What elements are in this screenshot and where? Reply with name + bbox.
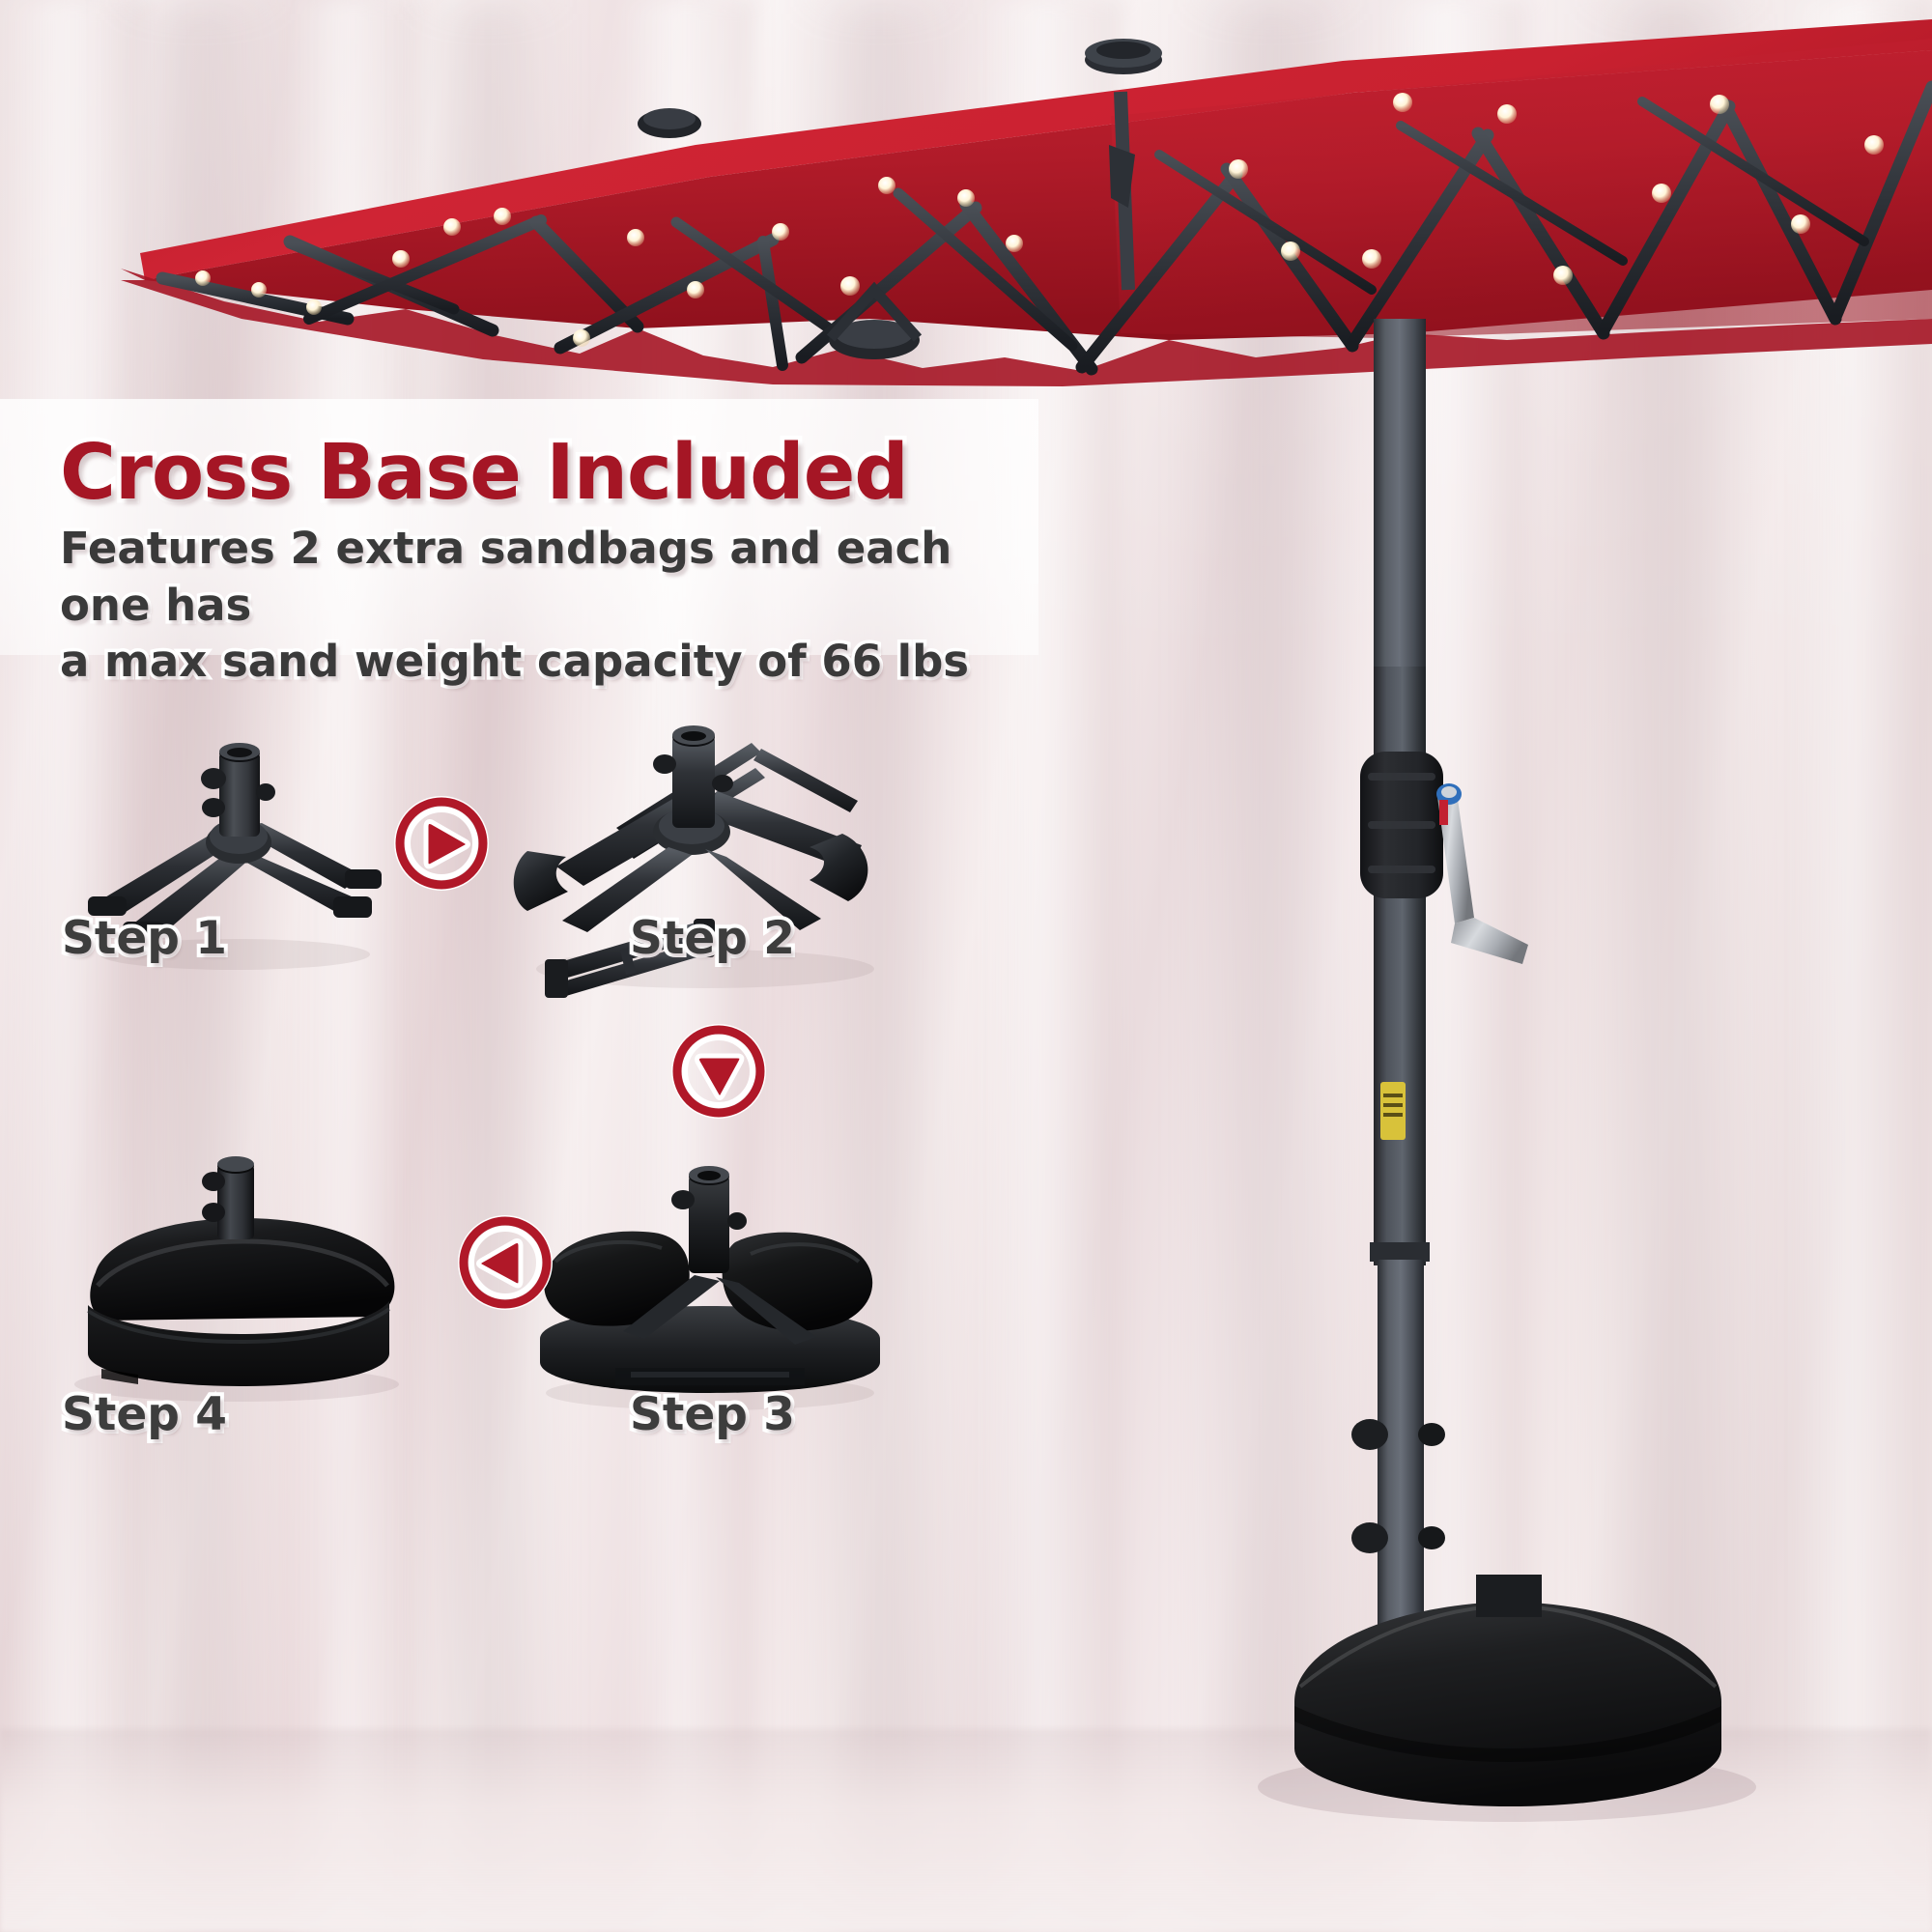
thumb-screw xyxy=(712,775,733,792)
step-4-illustration xyxy=(63,1164,411,1401)
corner-cup xyxy=(514,851,568,911)
banner-text-panel: Cross Base Included Features 2 extra san… xyxy=(0,399,1038,655)
frame-rail-rear xyxy=(753,749,858,812)
step-3-illustration xyxy=(526,1140,894,1415)
arrow-left-icon xyxy=(457,1214,554,1311)
step-2-label: Step 2 xyxy=(630,912,795,965)
thumb-screw xyxy=(256,783,275,801)
pole-socket xyxy=(672,735,715,828)
thumb-screw xyxy=(653,754,676,774)
canopy-hub-secondary xyxy=(638,108,701,138)
crank-handle xyxy=(1436,783,1528,964)
pole-upper xyxy=(1374,319,1426,667)
crank-housing xyxy=(1360,752,1443,898)
thumb-screw xyxy=(671,1190,695,1209)
step-4-label: Step 4 xyxy=(62,1388,227,1441)
cross-foot xyxy=(345,869,382,889)
umbrella-pole-assembly xyxy=(1285,319,1826,1826)
pole-joint-collar xyxy=(1370,1242,1430,1262)
weighted-sandbag-base xyxy=(1258,1575,1756,1822)
page-title: Cross Base Included xyxy=(60,428,908,517)
warning-label xyxy=(1380,1082,1406,1140)
base-pole-collar xyxy=(1476,1575,1542,1617)
pole-socket xyxy=(689,1175,729,1273)
crank-red-accent xyxy=(1439,800,1448,825)
pole-socket xyxy=(217,1164,254,1239)
thumb-screw xyxy=(202,798,225,817)
product-scene: Cross Base Included Features 2 extra san… xyxy=(0,0,1932,1932)
pole-lower xyxy=(1378,1260,1424,1675)
step-1-label: Step 1 xyxy=(62,912,227,965)
solar-cap xyxy=(1085,39,1162,74)
thumb-screw xyxy=(727,1212,747,1230)
arrow-down-icon xyxy=(670,1023,767,1120)
step-2-illustration xyxy=(502,720,889,1029)
thumb-screw xyxy=(202,1172,225,1191)
corner-cup xyxy=(810,834,867,901)
arrow-right-icon xyxy=(393,795,490,892)
step-3-label: Step 3 xyxy=(630,1388,795,1441)
cross-foot xyxy=(333,896,372,918)
thumb-screw xyxy=(202,1203,225,1222)
thumb-screw xyxy=(201,768,226,789)
banner-body-line-2: a max sand weight capacity of 66 lbs xyxy=(60,634,1007,691)
banner-body-text: Features 2 extra sandbags and each one h… xyxy=(60,521,1007,691)
rail-end-cap xyxy=(545,959,568,998)
banner-body-line-1: Features 2 extra sandbags and each one h… xyxy=(60,521,1007,634)
pole-socket xyxy=(219,752,260,837)
sandbag-right xyxy=(723,1233,873,1331)
